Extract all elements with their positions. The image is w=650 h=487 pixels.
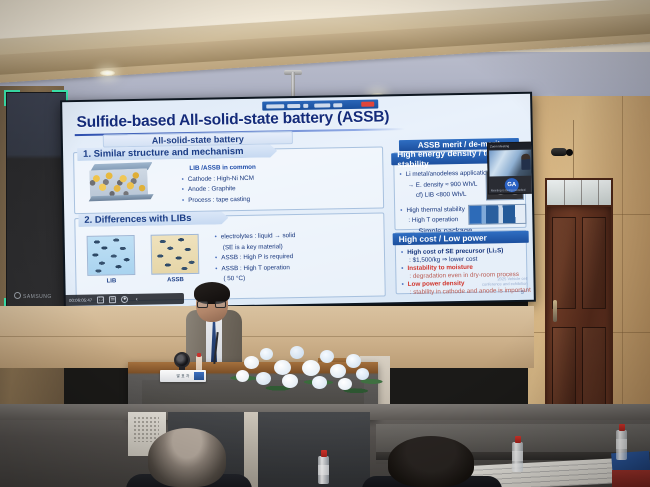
lib-figure-label: LIB [87, 278, 135, 285]
merit-bullets: Li metal/anodeless application → E. dens… [399, 168, 491, 237]
lib-microstructure-figure [87, 235, 136, 276]
glasses-icon [197, 301, 227, 308]
demerit-panel-heading: High cost / Low power [393, 231, 529, 245]
demerit-bullet-5: : stability in cathode and anode is impo… [402, 287, 531, 297]
merit-bullet-2: cf) LIB <800 Wh/L [400, 189, 491, 201]
nameplate-accent [194, 372, 204, 380]
security-camera-icon [551, 148, 567, 156]
section1-bullet-0: Cathode : High-Ni NCM [181, 173, 256, 185]
section1-bullets: LIB /ASSB in common Cathode : High-Ni NC… [181, 163, 256, 206]
remote-participant [521, 154, 530, 170]
previous-icon[interactable]: ‹ [133, 296, 140, 303]
audience-member-head [148, 428, 226, 487]
video-call-feed [489, 150, 534, 177]
water-bottle [616, 430, 627, 460]
wall-seam [622, 96, 623, 438]
wall-trim-line [0, 336, 534, 337]
slide-page-number: 5 [521, 290, 524, 296]
corner-note-line2: conference and exhibition [482, 281, 528, 287]
side-display-panel [6, 92, 68, 314]
video-call-status: Meeting is being recorded [491, 188, 526, 193]
projection-screen: Sulfide-based All-solid-state battery (A… [60, 92, 536, 311]
water-bottle [318, 456, 329, 484]
section2-bullet-4: ( 50 °C) [215, 273, 296, 285]
battery-stack-figure [89, 162, 154, 202]
section2-bullet-3: ASSB : High T operation [215, 263, 296, 275]
speaker-grille-pattern [133, 416, 159, 442]
logo-mark-icon [14, 292, 21, 299]
section2-bullet-2: ASSB : High P is required [215, 252, 296, 264]
notes-icon[interactable]: ☰ [109, 296, 116, 303]
presentation-timer: 00:06:05:47 [69, 298, 92, 303]
assb-figure-label: ASSB [151, 277, 199, 284]
video-call-window[interactable]: Zoom Meeting GA Meeting is being recorde… [487, 142, 534, 195]
podium-nameplate: 발 표 자 [160, 370, 206, 382]
record-button[interactable] [361, 102, 374, 107]
cell-photo-thumbnail [468, 204, 526, 225]
assb-microstructure-figure [151, 234, 200, 275]
water-bottle [512, 442, 523, 472]
section2-bullet-0: electrolytes : liquid → solid [215, 231, 296, 243]
slide-corner-note: 2025 Vehicle cell conference and exhibit… [482, 276, 528, 287]
section2-heading: 2. Differences with LIBs [78, 211, 228, 227]
pointer-icon[interactable]: ● [121, 296, 128, 303]
led-corner-bracket-icon [4, 90, 20, 106]
floral-arrangement [230, 340, 380, 392]
demerit-bullets: High cost of SE precursor (Li₂S) : $1,50… [401, 247, 531, 297]
side-display-logo-text: SAMSUNG [23, 294, 52, 300]
stage-panel-divider [244, 412, 258, 487]
video-call-title: Zoom Meeting [490, 144, 509, 148]
fullscreen-icon[interactable]: ⛶ [97, 296, 104, 303]
ceiling-downlight [100, 70, 115, 76]
nameplate-text: 발 표 자 [177, 374, 190, 378]
side-display-logo: SAMSUNG [14, 292, 52, 300]
video-call-titlebar[interactable]: Zoom Meeting [488, 143, 534, 150]
audience-member-head [388, 436, 474, 487]
slide-surface: Sulfide-based All-solid-state battery (A… [62, 94, 534, 309]
conference-room-photo: SAMSUNG Sulfide-based All-solid-state ba… [0, 0, 650, 487]
section1-bullet-2: Process : tape casting [182, 194, 257, 206]
section2-bullets: electrolytes : liquid → solid (SE is a k… [215, 231, 297, 285]
presenter-toolbar[interactable]: 00:06:05:47 ⛶ ☰ ● ‹ [64, 293, 184, 306]
section1-lead: LIB /ASSB in common [181, 163, 256, 175]
door-handle[interactable] [553, 300, 557, 322]
red-fabric [612, 470, 650, 487]
wall-conduit [573, 120, 574, 180]
